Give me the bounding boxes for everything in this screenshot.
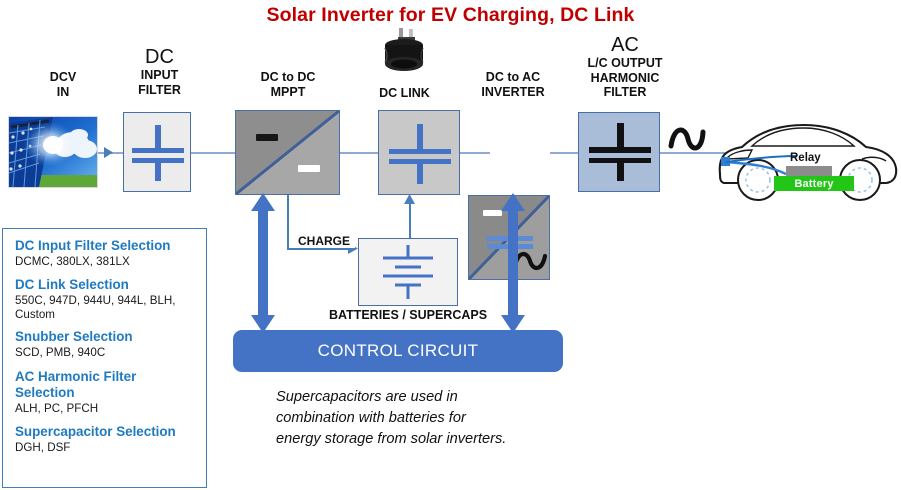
stage-label-dcv-in: DCV IN	[18, 70, 108, 99]
capacitor-icon-input-filter	[132, 125, 184, 181]
wire-charge-to-batteries	[287, 248, 355, 250]
stage-label-ac-filter-line2: HARMONIC	[591, 71, 660, 85]
stage-label-input-filter-line1: INPUT	[141, 68, 179, 82]
charge-label: CHARGE	[293, 234, 355, 248]
info-items-ac-harmonic-filter: ALH, PC, PFCH	[15, 402, 196, 415]
stage-label-inverter: DC to AC INVERTER	[458, 70, 568, 99]
selection-guide-panel: DC Input Filter Selection DCMC, 380LX, 3…	[2, 228, 207, 488]
stage-label-dcv-in-line2: IN	[57, 85, 70, 99]
block-dc-dc-mppt	[235, 110, 340, 195]
minus-symbol-mppt-input	[256, 134, 278, 141]
double-arrow-mppt-control	[250, 193, 276, 333]
control-circuit-label: CONTROL CIRCUIT	[318, 341, 479, 361]
caption-line-3: energy storage from solar inverters.	[276, 429, 606, 450]
info-items-dc-input-filter: DCMC, 380LX, 381LX	[15, 255, 196, 268]
minus-symbol-mppt-output	[298, 165, 320, 172]
batteries-supercaps-label: BATTERIES / SUPERCAPS	[313, 308, 503, 322]
info-items-snubber: SCD, PMB, 940C	[15, 346, 196, 359]
stage-label-dc-link: DC LINK	[352, 86, 457, 101]
stage-label-inverter-line1: DC to AC	[486, 70, 540, 84]
info-heading-dc-link: DC Link Selection	[15, 277, 196, 293]
electric-vehicle-graphic: Relay Battery	[712, 112, 901, 204]
info-items-supercapacitor: DGH, DSF	[15, 441, 196, 454]
block-dc-input-filter	[123, 112, 191, 192]
stage-label-input-filter-line2: FILTER	[138, 83, 181, 97]
stage-label-dcv-in-line1: DCV	[50, 70, 76, 84]
stage-label-mppt: DC to DC MPPT	[233, 70, 343, 99]
info-heading-ac-harmonic-filter: AC Harmonic Filter Selection	[15, 369, 196, 401]
battery-icon	[359, 239, 457, 305]
block-batteries-supercaps	[358, 238, 458, 306]
dc-link-capacitor-photo	[378, 28, 430, 74]
solar-panel-photo	[8, 116, 98, 188]
capacitor-icon-dc-link	[389, 124, 451, 184]
block-ac-harmonic-filter	[578, 112, 660, 192]
block-dc-link	[378, 110, 460, 195]
arrow-solar-to-input	[104, 146, 118, 164]
info-heading-supercapacitor: Supercapacitor Selection	[15, 424, 196, 440]
page-title: Solar Inverter for EV Charging, DC Link	[0, 4, 901, 27]
sine-wave-icon-ac-output	[668, 122, 706, 158]
control-circuit-block[interactable]: CONTROL CIRCUIT	[233, 330, 563, 372]
stage-label-input-filter-dc: DC	[112, 46, 207, 68]
info-heading-snubber: Snubber Selection	[15, 329, 196, 345]
wire-mppt-to-charge-vertical	[287, 195, 289, 249]
wire-mppt-to-dclink	[338, 152, 378, 154]
caption-line-2: combination with batteries for	[276, 408, 606, 429]
capacitor-icon-ac-filter	[589, 123, 651, 181]
stage-label-ac-filter-line1: L/C OUTPUT	[588, 56, 663, 70]
stage-label-ac-filter: AC L/C OUTPUT HARMONIC FILTER	[565, 34, 685, 100]
stage-label-mppt-line2: MPPT	[271, 85, 306, 99]
diagonal-divider-mppt	[236, 111, 339, 194]
info-heading-dc-input-filter: DC Input Filter Selection	[15, 238, 196, 254]
arrow-batteries-to-dclink	[403, 194, 416, 208]
double-arrow-inverter-control	[500, 193, 526, 333]
info-items-dc-link: 550C, 947D, 944U, 944L, BLH, Custom	[15, 294, 196, 321]
stage-label-ac-filter-ac: AC	[565, 34, 685, 56]
stage-label-mppt-line1: DC to DC	[261, 70, 316, 84]
stage-label-ac-filter-line3: FILTER	[604, 85, 647, 99]
wire-dclink-to-inverter	[460, 152, 490, 154]
caption-text: Supercapacitors are used in combination …	[276, 387, 606, 450]
caption-line-1: Supercapacitors are used in	[276, 387, 606, 408]
relay-label: Relay	[790, 152, 821, 164]
stage-label-input-filter: DC INPUT FILTER	[112, 46, 207, 97]
stage-label-inverter-line2: INVERTER	[481, 85, 544, 99]
battery-box: Battery	[774, 176, 854, 191]
